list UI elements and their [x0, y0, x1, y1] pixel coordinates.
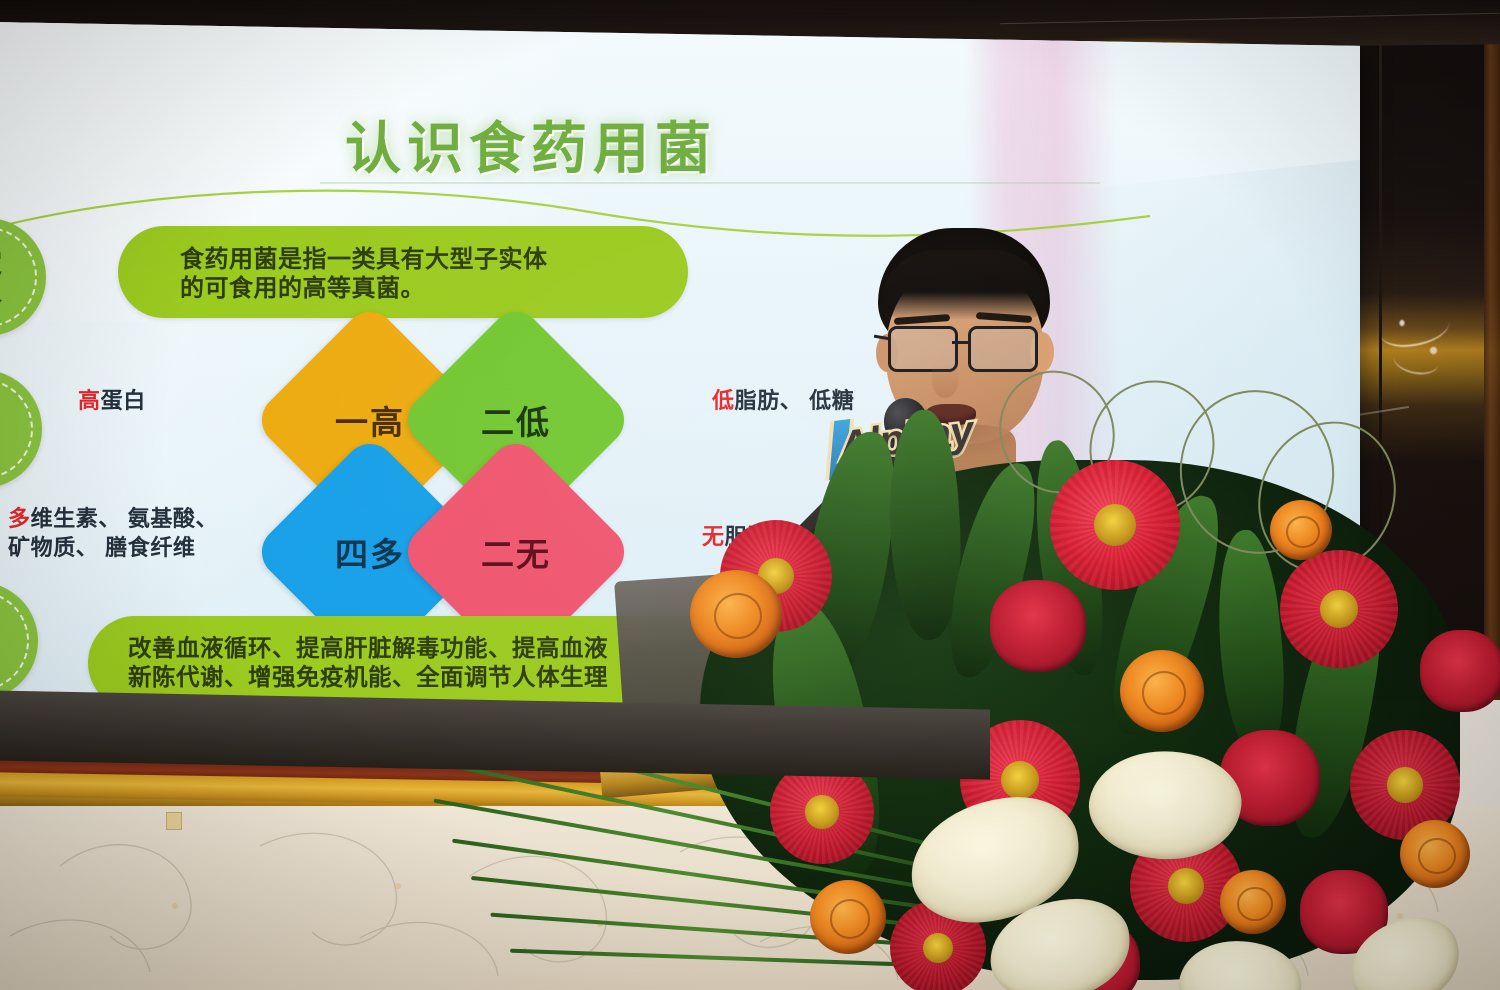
label-high-protein-highlight: 高 — [78, 388, 101, 413]
diamond-two-low-label: 二低 — [481, 396, 551, 444]
badge-benefits — [0, 582, 38, 700]
photograph-scene: 认识食药用菌 定义 营养特点 食药用菌是指一类具有大型子实体 的可食用的高等真菌… — [0, 0, 1500, 990]
nose — [932, 364, 958, 398]
gerbera-flower — [1280, 550, 1398, 668]
glasses-bridge — [952, 341, 970, 344]
label-high-protein-rest: 蛋白 — [101, 388, 146, 413]
rose-flower — [1220, 870, 1286, 934]
hair-fringe — [880, 250, 1048, 320]
carnation-flower — [1420, 630, 1500, 712]
rose-flower — [1400, 820, 1470, 888]
badge-nutrition: 营养特点 — [0, 370, 42, 488]
gerbera-flower — [1050, 460, 1180, 590]
label-multi-nutrients-highlight: 多 — [8, 506, 31, 531]
diamond-cluster: 一高 二低 四多 二无 — [272, 322, 682, 622]
rose-flower — [810, 880, 886, 954]
rose-flower — [1270, 500, 1332, 560]
diamond-four-many-label: 四多 — [335, 528, 405, 576]
badge-definition-label: 定义 — [0, 249, 1, 305]
wall-socket — [166, 812, 182, 830]
lens-right — [968, 326, 1038, 372]
diamond-one-high-label: 一高 — [335, 396, 405, 444]
diamond-two-none-label: 二无 — [481, 528, 551, 576]
label-high-protein: 高蛋白 — [78, 386, 146, 415]
rose-flower — [1120, 650, 1204, 732]
flower-arrangement — [660, 400, 1500, 990]
rose-flower — [690, 570, 782, 658]
carnation-flower — [990, 580, 1086, 672]
eyeglasses — [886, 326, 1050, 370]
definition-banner-text: 食药用菌是指一类具有大型子实体 的可食用的高等真菌。 — [180, 245, 548, 304]
label-multi-nutrients: 多维生素、 氨基酸、 矿物质、 膳食纤维 — [8, 504, 218, 562]
definition-banner: 食药用菌是指一类具有大型子实体 的可食用的高等真菌。 — [118, 226, 688, 318]
wall-reflection-highlight — [1375, 290, 1465, 400]
label-multi-nutrients-rest: 维生素、 氨基酸、 矿物质、 膳食纤维 — [8, 506, 218, 560]
